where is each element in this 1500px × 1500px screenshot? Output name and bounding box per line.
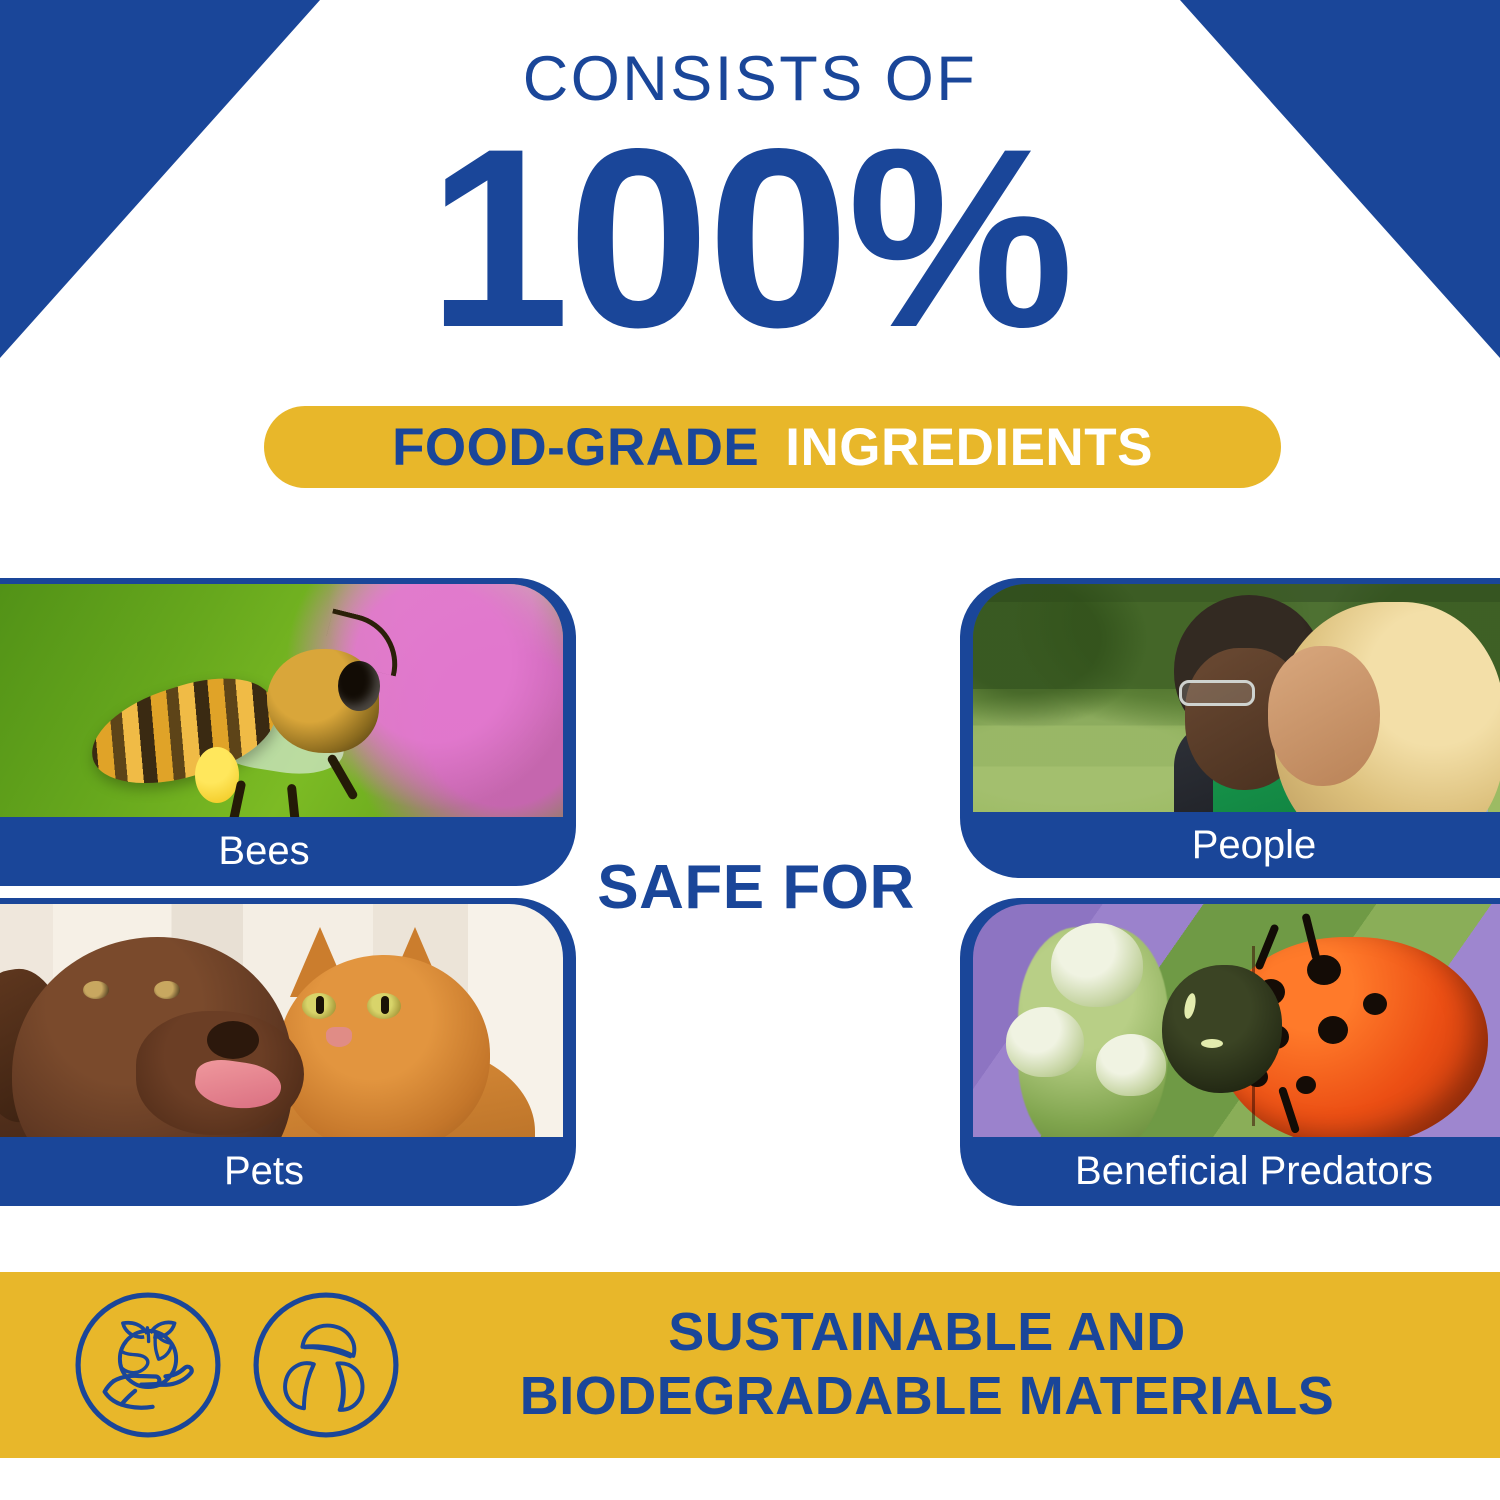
sustainability-banner: SUSTAINABLE AND BIODEGRADABLE MATERIALS — [0, 1272, 1500, 1458]
safe-for-card-people: People — [960, 578, 1500, 878]
card-label-bees: Bees — [0, 817, 576, 886]
food-grade-ingredients-pill: FOOD-GRADE INGREDIENTS — [264, 406, 1281, 488]
percent-value: 100% — [0, 127, 1500, 351]
bees-photo — [0, 584, 563, 817]
safe-for-card-bees: Bees — [0, 578, 576, 886]
hand-holding-earth-sprout-icon — [72, 1289, 224, 1441]
pill-label-ingredients: INGREDIENTS — [785, 417, 1153, 478]
safe-for-heading: SAFE FOR — [556, 852, 956, 923]
pets-photo — [0, 904, 563, 1137]
safe-for-card-beneficial-predators: Beneficial Predators — [960, 898, 1500, 1206]
card-label-people: People — [960, 812, 1500, 878]
banner-line-one: SUSTAINABLE AND — [402, 1301, 1452, 1365]
sustainability-banner-text: SUSTAINABLE AND BIODEGRADABLE MATERIALS — [402, 1301, 1500, 1428]
eco-icon-group — [72, 1289, 402, 1441]
card-label-beneficial-predators: Beneficial Predators — [960, 1137, 1500, 1206]
headline-block: CONSISTS OF 100% — [0, 48, 1500, 351]
banner-line-two: BIODEGRADABLE MATERIALS — [402, 1365, 1452, 1429]
infographic-root: CONSISTS OF 100% FOOD-GRADE INGREDIENTS … — [0, 0, 1500, 1500]
pill-label-food-grade: FOOD-GRADE — [392, 417, 759, 478]
card-label-pets: Pets — [0, 1137, 576, 1206]
people-photo — [973, 584, 1500, 812]
beneficial-predators-photo — [973, 904, 1500, 1137]
safe-for-card-pets: Pets — [0, 898, 576, 1206]
recycle-leaves-icon — [250, 1289, 402, 1441]
